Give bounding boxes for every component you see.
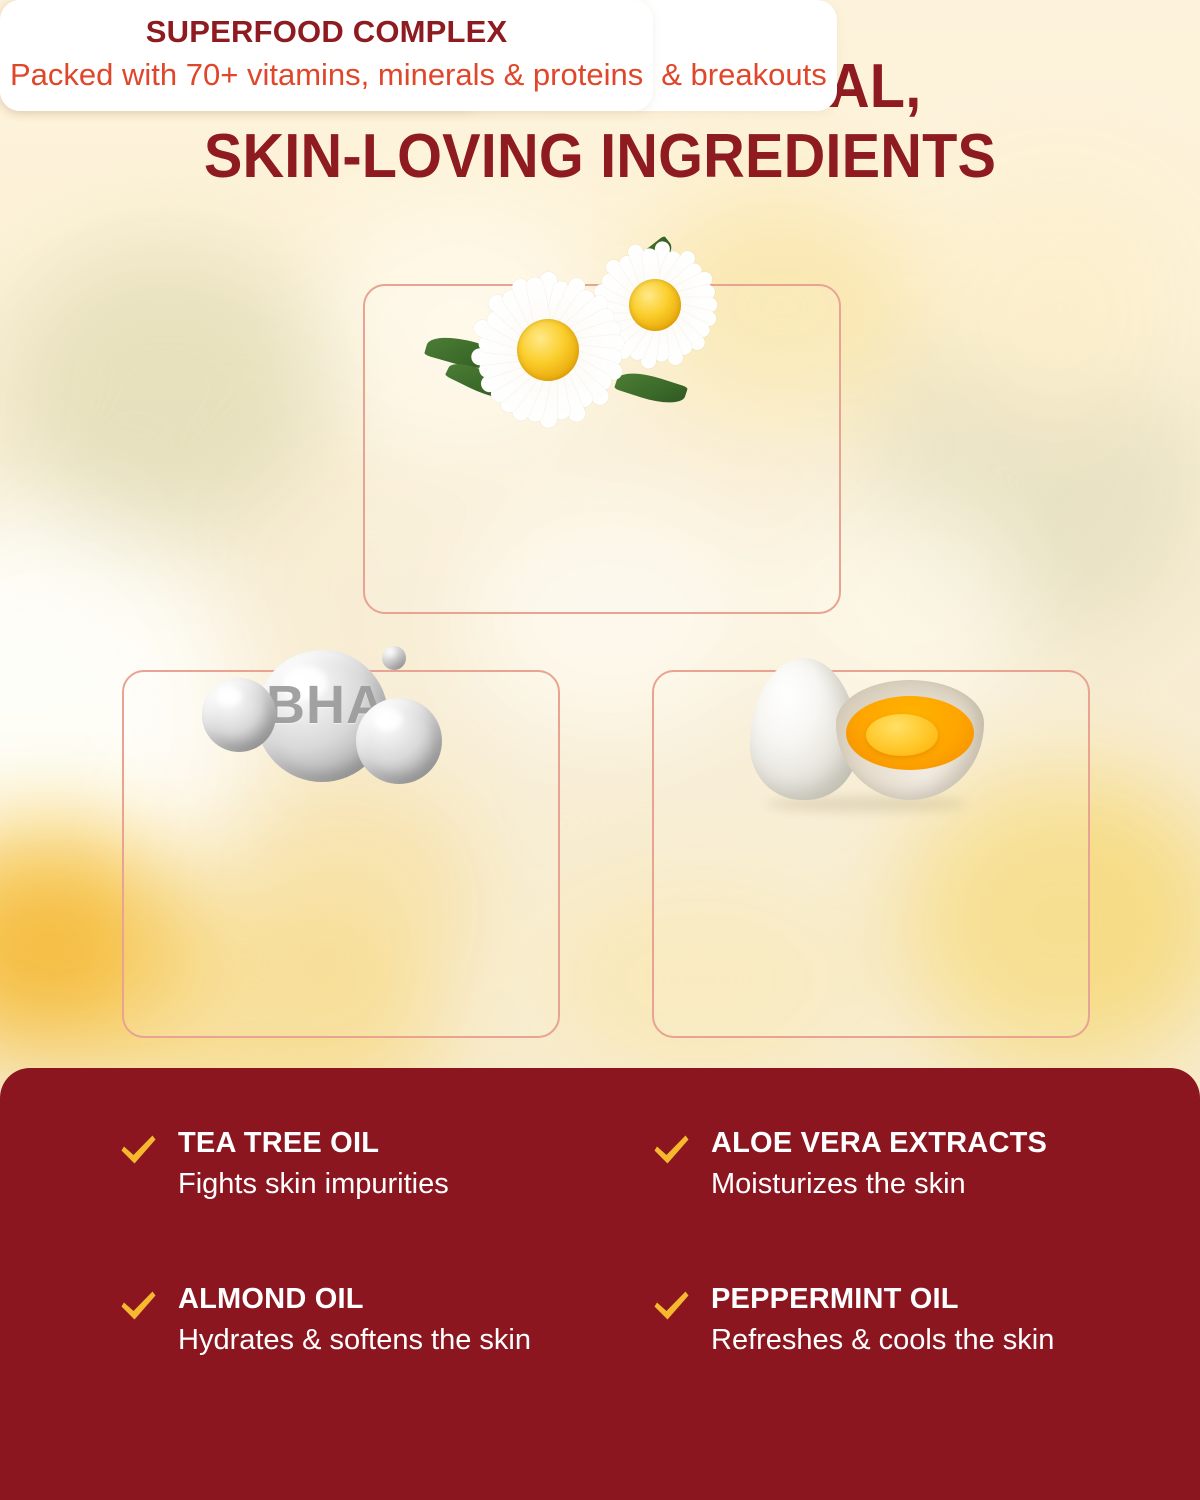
check-icon bbox=[651, 1130, 691, 1170]
superfood-description: Packed with 70+ vitamins, minerals & pro… bbox=[10, 55, 643, 95]
benefit-item-tea-tree-oil: TEA TREE OIL Fights skin impurities bbox=[118, 1126, 595, 1204]
benefits-panel: TEA TREE OIL Fights skin impurities ALOE… bbox=[0, 1068, 1200, 1500]
page-title-line-2: SKIN-LOVING INGREDIENTS bbox=[42, 122, 1158, 192]
benefit-item-aloe-vera-extracts: ALOE VERA EXTRACTS Moisturizes the skin bbox=[651, 1126, 1128, 1204]
benefit-title: ALMOND OIL bbox=[178, 1282, 595, 1316]
ingredient-card-superfood bbox=[652, 670, 1090, 1038]
ingredient-card-salicylic-acid bbox=[122, 670, 560, 1038]
superfood-title: SUPERFOOD COMPLEX bbox=[10, 14, 643, 51]
benefits-grid: TEA TREE OIL Fights skin impurities ALOE… bbox=[118, 1126, 1128, 1360]
benefit-description: Hydrates & softens the skin bbox=[178, 1322, 595, 1360]
check-icon bbox=[118, 1130, 158, 1170]
superfood-text-panel: SUPERFOOD COMPLEX Packed with 70+ vitami… bbox=[0, 0, 653, 111]
check-icon bbox=[651, 1286, 691, 1326]
benefit-item-peppermint-oil: PEPPERMINT OIL Refreshes & cools the ski… bbox=[651, 1282, 1128, 1360]
benefit-title: ALOE VERA EXTRACTS bbox=[711, 1126, 1128, 1160]
check-icon bbox=[118, 1286, 158, 1326]
benefit-item-almond-oil: ALMOND OIL Hydrates & softens the skin bbox=[118, 1282, 595, 1360]
benefit-description: Refreshes & cools the skin bbox=[711, 1322, 1128, 1360]
benefit-title: TEA TREE OIL bbox=[178, 1126, 595, 1160]
benefit-description: Fights skin impurities bbox=[178, 1166, 595, 1204]
benefit-title: PEPPERMINT OIL bbox=[711, 1282, 1128, 1316]
benefit-description: Moisturizes the skin bbox=[711, 1166, 1128, 1204]
ingredient-card-chamomile bbox=[363, 284, 841, 614]
